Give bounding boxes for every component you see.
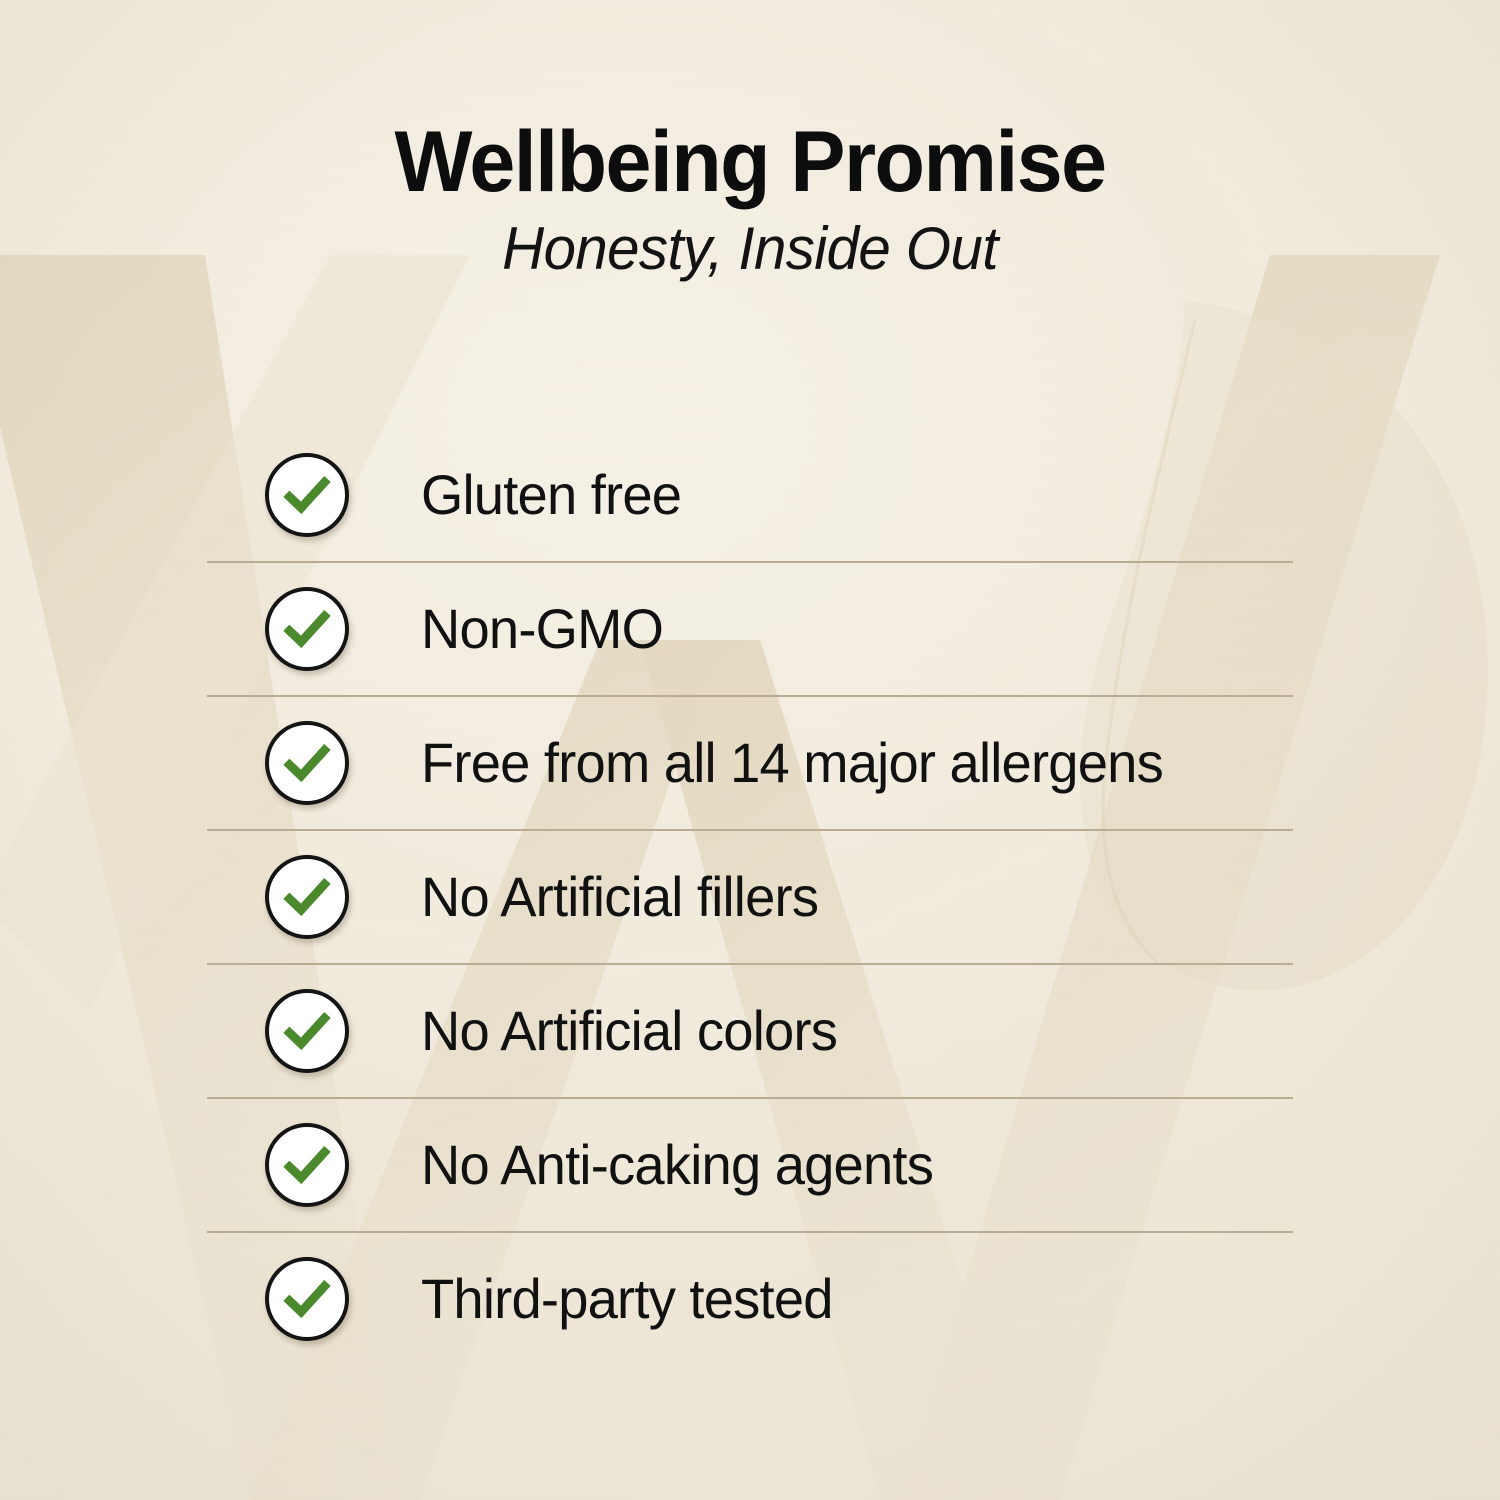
list-item: Third-party tested (207, 1233, 1293, 1365)
list-item-label: No Artificial fillers (421, 869, 818, 925)
promise-graphic: Wellbeing Promise Honesty, Inside Out Gl… (0, 0, 1500, 1500)
list-item: Gluten free (207, 429, 1293, 563)
list-item-label: Non-GMO (421, 601, 663, 657)
list-item: No Artificial colors (207, 965, 1293, 1099)
list-item-label: No Anti-caking agents (421, 1137, 933, 1193)
list-item-label: Free from all 14 major allergens (421, 735, 1163, 791)
list-item: No Anti-caking agents (207, 1099, 1293, 1233)
check-circle-icon (265, 989, 349, 1073)
check-circle-icon (265, 587, 349, 671)
list-item: Free from all 14 major allergens (207, 697, 1293, 831)
header: Wellbeing Promise Honesty, Inside Out (0, 118, 1500, 281)
list-item-label: Third-party tested (421, 1271, 833, 1327)
check-circle-icon (265, 1257, 349, 1341)
check-circle-icon (265, 855, 349, 939)
page-subtitle: Honesty, Inside Out (23, 217, 1478, 281)
check-circle-icon (265, 453, 349, 537)
check-circle-icon (265, 1123, 349, 1207)
list-item: Non-GMO (207, 563, 1293, 697)
list-item-label: Gluten free (421, 467, 681, 523)
check-circle-icon (265, 721, 349, 805)
list-item: No Artificial fillers (207, 831, 1293, 965)
promise-list: Gluten free Non-GMO Free from all 14 maj… (207, 429, 1293, 1365)
list-item-label: No Artificial colors (421, 1003, 837, 1059)
page-title: Wellbeing Promise (30, 118, 1470, 207)
